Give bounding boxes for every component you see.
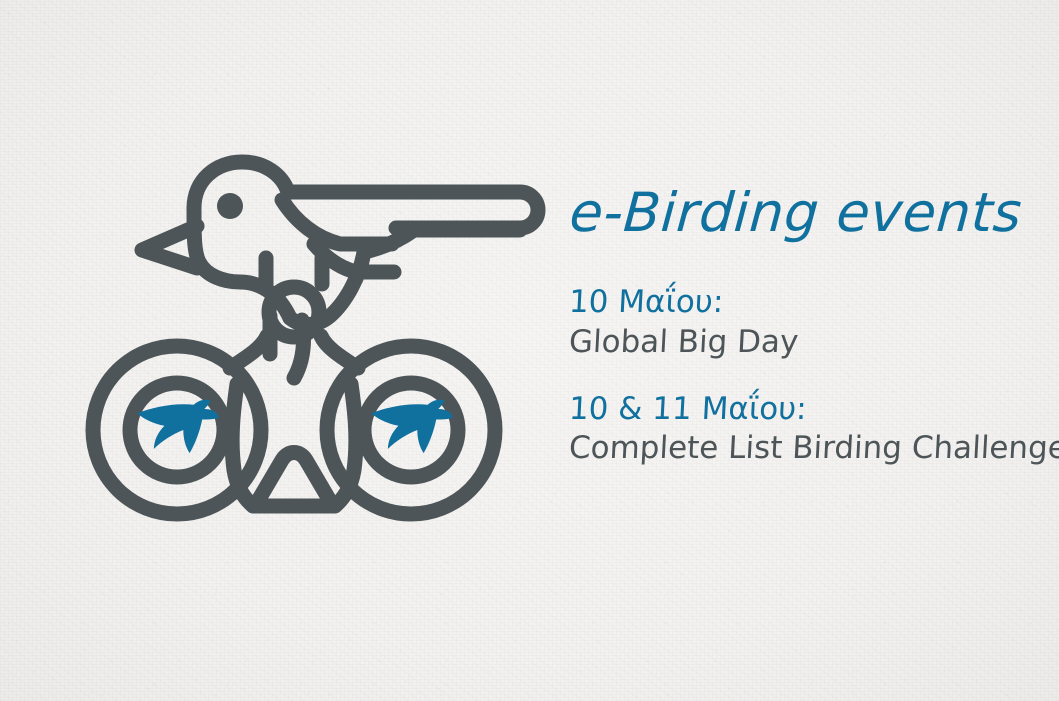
event-date: 10 & 11 Μαΐου:	[568, 391, 1040, 428]
right-lens-swallow-icon	[371, 400, 453, 453]
bird-head-back-tail-top	[194, 162, 538, 228]
bird-wing-upper-feather	[282, 200, 392, 244]
illustration-svg	[34, 140, 554, 552]
bridge-left-upper-arm	[230, 336, 267, 368]
bird-on-binoculars-illustration	[34, 140, 554, 552]
text-block: e-Birding events 10 Μαΐου: Global Big Da…	[568, 186, 1038, 468]
event-date: 10 Μαΐου:	[568, 284, 1040, 321]
bird-throat-chest	[194, 208, 290, 318]
left-lens-swallow-icon	[137, 400, 219, 453]
bird-tail-underside	[364, 230, 520, 252]
bridge-center-hinge	[255, 453, 333, 507]
poster-title: e-Birding events	[568, 186, 1042, 240]
event-item: 10 Μαΐου: Global Big Day	[568, 284, 1038, 361]
poster-canvas: e-Birding events 10 Μαΐου: Global Big Da…	[0, 0, 1059, 701]
event-item: 10 & 11 Μαΐου: Complete List Birding Cha…	[568, 391, 1038, 468]
binoculars-icon	[93, 258, 495, 514]
event-name: Complete List Birding Challenge	[568, 430, 1040, 467]
bird-eye-icon	[217, 193, 243, 219]
event-name: Global Big Day	[568, 324, 1040, 361]
bridge-right-upper-arm	[321, 336, 358, 368]
